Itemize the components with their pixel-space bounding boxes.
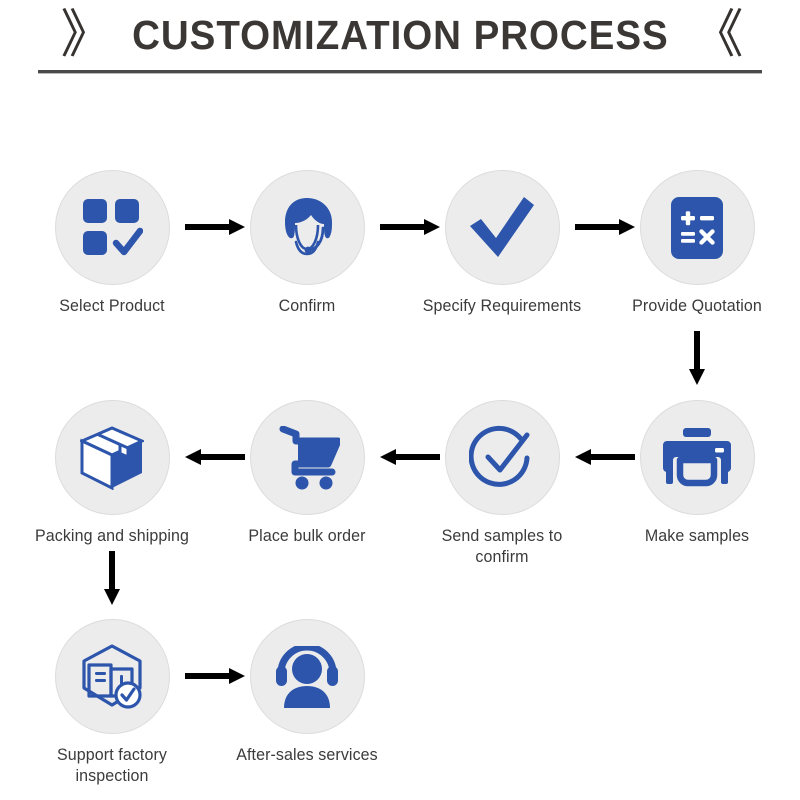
step-icon-circle <box>445 400 560 515</box>
arrow-right-icon <box>380 216 440 238</box>
title-divider <box>38 70 762 74</box>
arrow-left-icon <box>185 446 245 468</box>
arrow-right-icon <box>185 665 245 687</box>
step-confirm[interactable]: Confirm <box>217 170 397 317</box>
page-title: 》 CUSTOMIZATION PROCESS 《 <box>0 8 800 62</box>
arrow-right-icon <box>575 216 635 238</box>
shield-inspection-icon <box>78 644 146 710</box>
step-icon-circle <box>640 400 755 515</box>
step-label: Place bulk order <box>220 526 395 547</box>
support-agent-headset-icon <box>274 195 340 261</box>
step-icon-circle <box>250 619 365 734</box>
step-support-factory-inspection[interactable]: Support factory inspection <box>22 619 202 787</box>
shopping-cart-icon <box>274 426 340 490</box>
step-after-sales-services[interactable]: After-sales services <box>217 619 397 766</box>
checkmark-icon <box>467 195 537 261</box>
step-icon-circle <box>55 170 170 285</box>
step-label: Select Product <box>25 296 200 317</box>
step-icon-circle <box>250 170 365 285</box>
headset-person-icon <box>274 646 340 708</box>
calculator-icon <box>670 196 724 260</box>
page-title-text: CUSTOMIZATION PROCESS <box>132 8 669 62</box>
step-provide-quotation[interactable]: Provide Quotation <box>607 170 787 317</box>
arrow-left-icon <box>575 446 635 468</box>
step-send-samples-to-confirm[interactable]: Send samples to confirm <box>412 400 592 568</box>
four-squares-check-icon <box>81 197 143 259</box>
step-label: Specify Requirements <box>415 296 590 317</box>
step-specify-requirements[interactable]: Specify Requirements <box>412 170 592 317</box>
step-icon-circle <box>445 170 560 285</box>
connector-row1-to-row2 <box>686 331 708 385</box>
printer-icon <box>663 427 731 489</box>
step-icon-circle <box>250 400 365 515</box>
shipping-box-icon <box>80 426 144 490</box>
step-icon-circle <box>640 170 755 285</box>
step-place-bulk-order[interactable]: Place bulk order <box>217 400 397 547</box>
step-packing-and-shipping[interactable]: Packing and shipping <box>22 400 202 547</box>
connector-row2-to-row3 <box>101 551 123 605</box>
step-label: Confirm <box>220 296 395 317</box>
step-icon-circle <box>55 400 170 515</box>
arrow-left-icon <box>380 446 440 468</box>
header: 》 CUSTOMIZATION PROCESS 《 <box>0 0 800 90</box>
arrow-right-icon <box>185 216 245 238</box>
step-label: Provide Quotation <box>610 296 785 317</box>
step-label: Send samples to confirm <box>415 526 590 568</box>
chevron-right-double-icon: 》 <box>61 9 109 61</box>
step-icon-circle <box>55 619 170 734</box>
chevron-left-double-icon: 《 <box>691 9 739 61</box>
step-label: Make samples <box>610 526 785 547</box>
circle-check-icon <box>469 425 535 491</box>
step-label: After-sales services <box>220 745 395 766</box>
customization-process-infographic: 》 CUSTOMIZATION PROCESS 《 Select Product <box>0 0 800 800</box>
step-label: Support factory inspection <box>25 745 200 787</box>
step-select-product[interactable]: Select Product <box>22 170 202 317</box>
step-make-samples[interactable]: Make samples <box>607 400 787 547</box>
step-label: Packing and shipping <box>25 526 200 547</box>
